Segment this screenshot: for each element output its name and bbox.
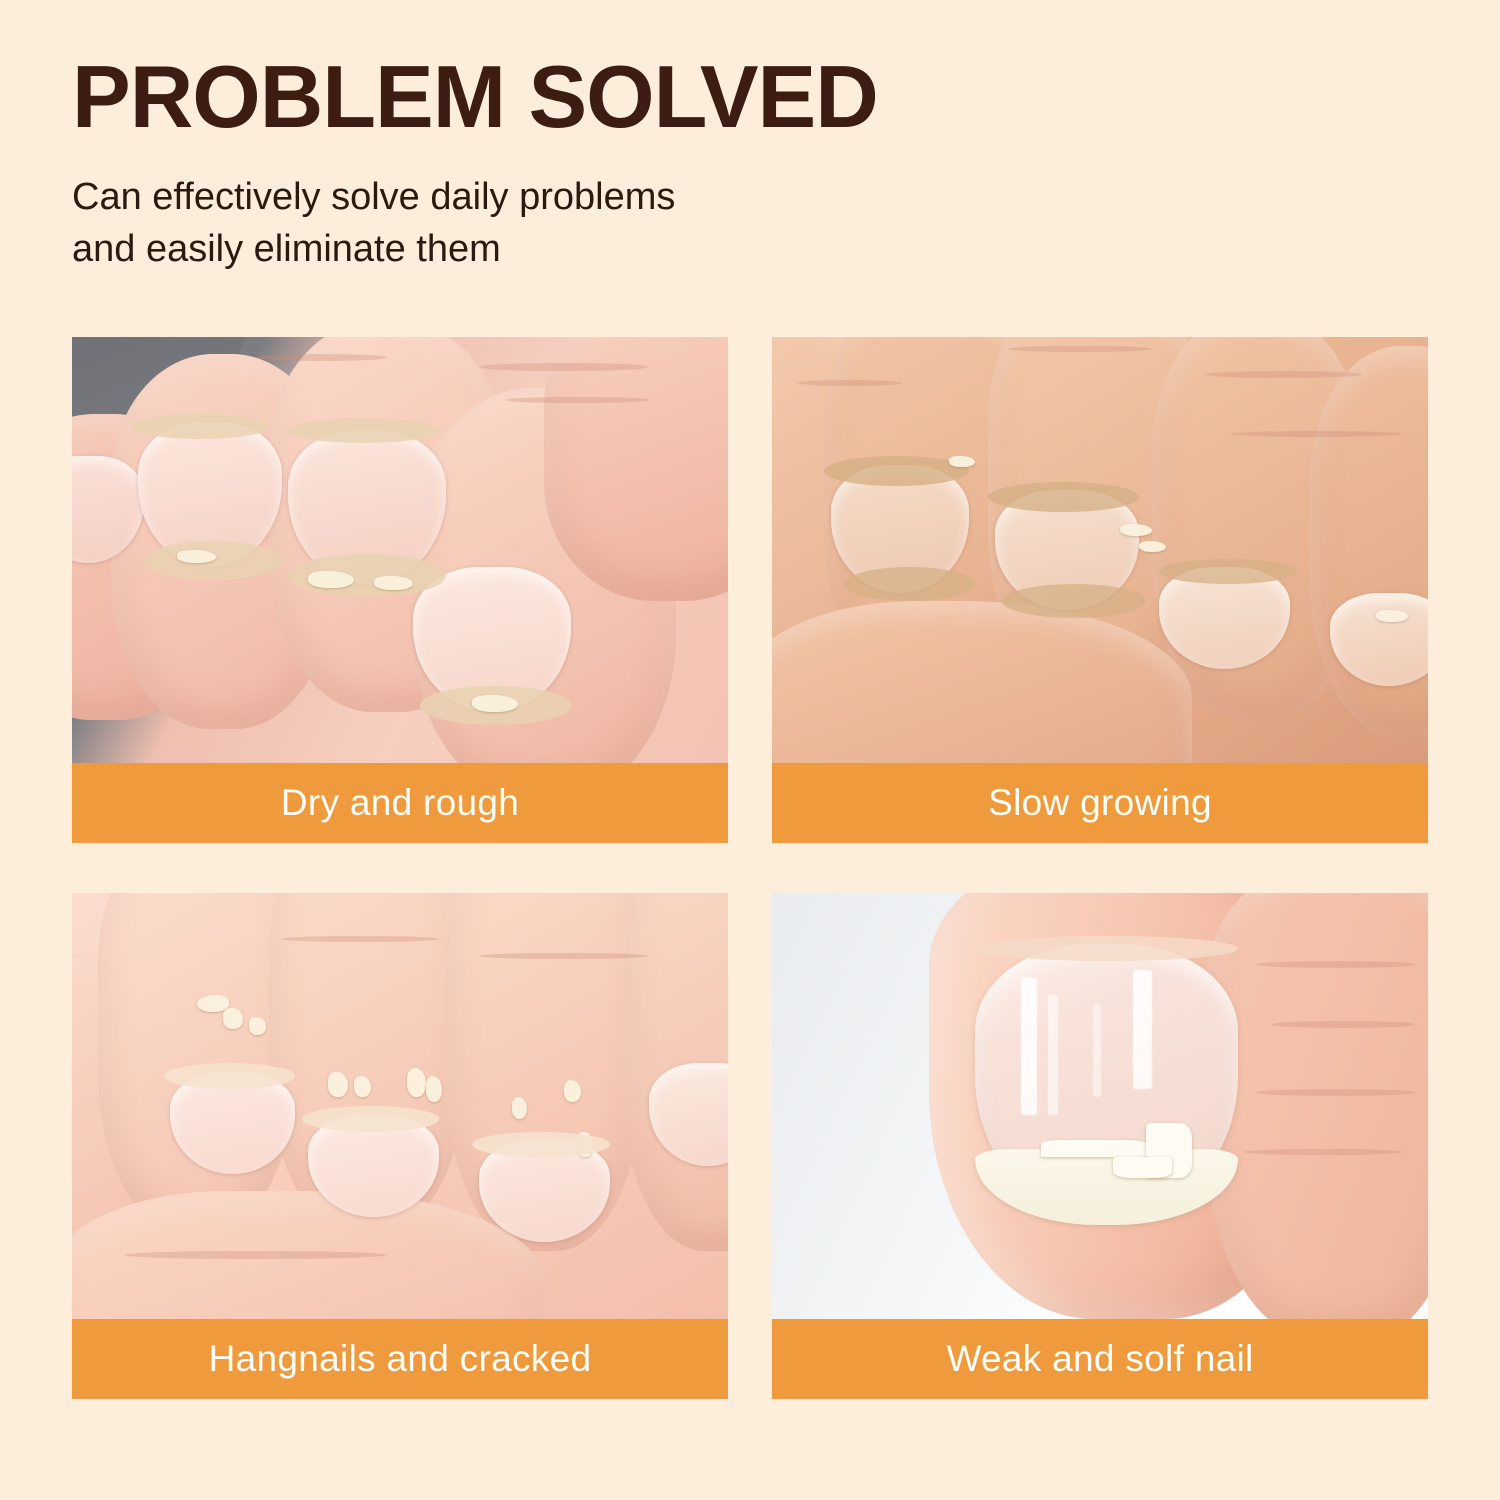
problem-card-grid: Dry and rough xyxy=(72,337,1428,1399)
photo-hangnails-and-cracked xyxy=(72,893,728,1319)
caption-weak-and-solf-nail: Weak and solf nail xyxy=(772,1319,1428,1399)
problem-card-slow-growing: Slow growing xyxy=(772,337,1428,843)
page-subtitle: Can effectively solve daily problems and… xyxy=(72,172,1412,275)
problem-card-hangnails-and-cracked: Hangnails and cracked xyxy=(72,893,728,1399)
problem-card-weak-and-solf-nail: Weak and solf nail xyxy=(772,893,1428,1399)
photo-dry-and-rough xyxy=(72,337,728,763)
photo-slow-growing xyxy=(772,337,1428,763)
caption-slow-growing: Slow growing xyxy=(772,763,1428,843)
problem-card-dry-and-rough: Dry and rough xyxy=(72,337,728,843)
page-title: PROBLEM SOLVED xyxy=(72,54,1412,140)
caption-hangnails-and-cracked: Hangnails and cracked xyxy=(72,1319,728,1399)
caption-dry-and-rough: Dry and rough xyxy=(72,763,728,843)
photo-weak-and-solf-nail xyxy=(772,893,1428,1319)
header: PROBLEM SOLVED Can effectively solve dai… xyxy=(72,54,1412,275)
